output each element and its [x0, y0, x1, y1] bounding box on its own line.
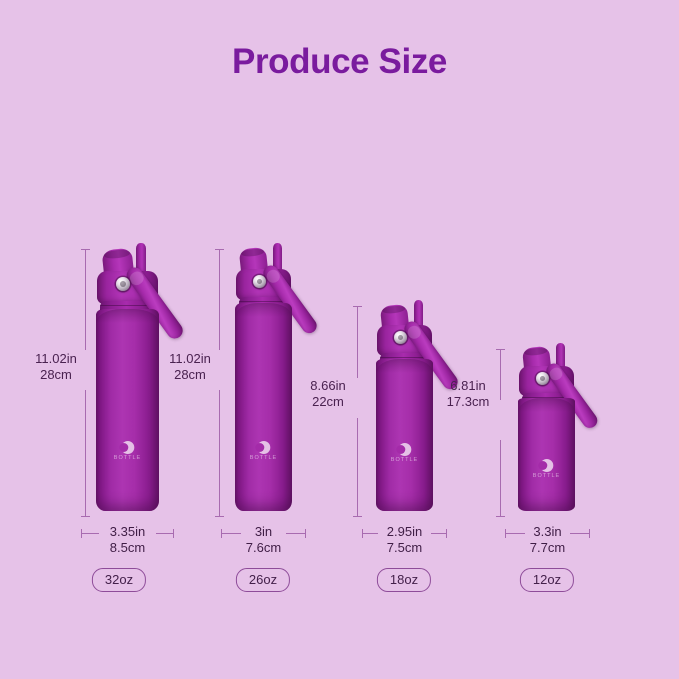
dimension-tick-bottom — [496, 516, 505, 517]
height-cm: 28cm — [161, 367, 219, 383]
brand-logo: BOTTLE — [533, 459, 560, 479]
capacity-badge-32oz[interactable]: 32oz — [92, 568, 146, 592]
spout-opening — [241, 248, 264, 257]
height-cm: 28cm — [27, 367, 85, 383]
dimension-tick-bottom — [81, 516, 90, 517]
width-cm: 7.5cm — [362, 540, 447, 556]
width-label-26oz: 3in 7.6cm — [221, 524, 306, 556]
brand-logo: BOTTLE — [114, 441, 141, 461]
capacity-badge-12oz[interactable]: 12oz — [520, 568, 574, 592]
width-cm: 7.6cm — [221, 540, 306, 556]
height-inches: 6.81in — [436, 378, 500, 394]
cap-button-rivet — [253, 275, 266, 288]
bottle-body — [518, 398, 575, 511]
bottle-body — [96, 309, 159, 511]
dimension-tick-bottom — [215, 516, 224, 517]
width-label-12oz: 3.3in 7.7cm — [505, 524, 590, 556]
width-label-32oz: 3.35in 8.5cm — [81, 524, 174, 556]
width-cm: 7.7cm — [505, 540, 590, 556]
bottle-body — [376, 359, 433, 511]
width-inches: 3.3in — [505, 524, 590, 540]
logo-mark-icon — [398, 443, 411, 456]
spout-opening — [525, 347, 548, 356]
spout-opening — [104, 249, 130, 259]
logo-mark-icon — [121, 441, 134, 454]
logo-wordmark: BOTTLE — [391, 457, 418, 463]
brand-logo: BOTTLE — [250, 441, 277, 461]
width-inches: 3.35in — [81, 524, 174, 540]
width-cm: 8.5cm — [81, 540, 174, 556]
dimension-tick-top — [353, 306, 362, 307]
brand-logo: BOTTLE — [391, 443, 418, 463]
width-inches: 3in — [221, 524, 306, 540]
height-label-32oz: 11.02in 28cm — [27, 351, 85, 383]
dimension-tick-bottom — [353, 516, 362, 517]
infographic-canvas: Produce Size 11.02in 28cm — [0, 0, 679, 679]
bottle-graphic-26oz: BOTTLE — [235, 243, 292, 511]
height-dimension-line-32oz — [85, 249, 86, 517]
height-inches: 11.02in — [161, 351, 219, 367]
dimension-tick-top — [496, 349, 505, 350]
dimension-tick-top — [81, 249, 90, 250]
cap-button-rivet — [394, 331, 407, 344]
bottle-graphic-12oz: BOTTLE — [518, 343, 575, 511]
logo-mark-icon — [257, 441, 270, 454]
height-cm: 17.3cm — [436, 394, 500, 410]
logo-wordmark: BOTTLE — [533, 473, 560, 479]
cap-button-rivet — [116, 277, 130, 291]
capacity-badge-18oz[interactable]: 18oz — [377, 568, 431, 592]
bottle-body — [235, 303, 292, 511]
height-dimension-line-26oz — [219, 249, 220, 517]
height-label-12oz: 6.81in 17.3cm — [436, 378, 500, 410]
page-title: Produce Size — [0, 42, 679, 82]
height-label-18oz: 8.66in 22cm — [299, 378, 357, 410]
width-inches: 2.95in — [362, 524, 447, 540]
logo-wordmark: BOTTLE — [250, 455, 277, 461]
bottle-graphic-32oz: BOTTLE — [96, 243, 159, 511]
spout-opening — [383, 305, 406, 314]
bottle-graphic-18oz: BOTTLE — [376, 300, 433, 511]
height-dimension-line-18oz — [357, 306, 358, 517]
height-dimension-line-12oz — [500, 349, 501, 517]
logo-wordmark: BOTTLE — [114, 455, 141, 461]
height-inches: 11.02in — [27, 351, 85, 367]
logo-mark-icon — [540, 459, 553, 472]
height-cm: 22cm — [299, 394, 357, 410]
width-label-18oz: 2.95in 7.5cm — [362, 524, 447, 556]
height-label-26oz: 11.02in 28cm — [161, 351, 219, 383]
dimension-tick-top — [215, 249, 224, 250]
height-inches: 8.66in — [299, 378, 357, 394]
capacity-badge-26oz[interactable]: 26oz — [236, 568, 290, 592]
cap-button-rivet — [536, 372, 549, 385]
